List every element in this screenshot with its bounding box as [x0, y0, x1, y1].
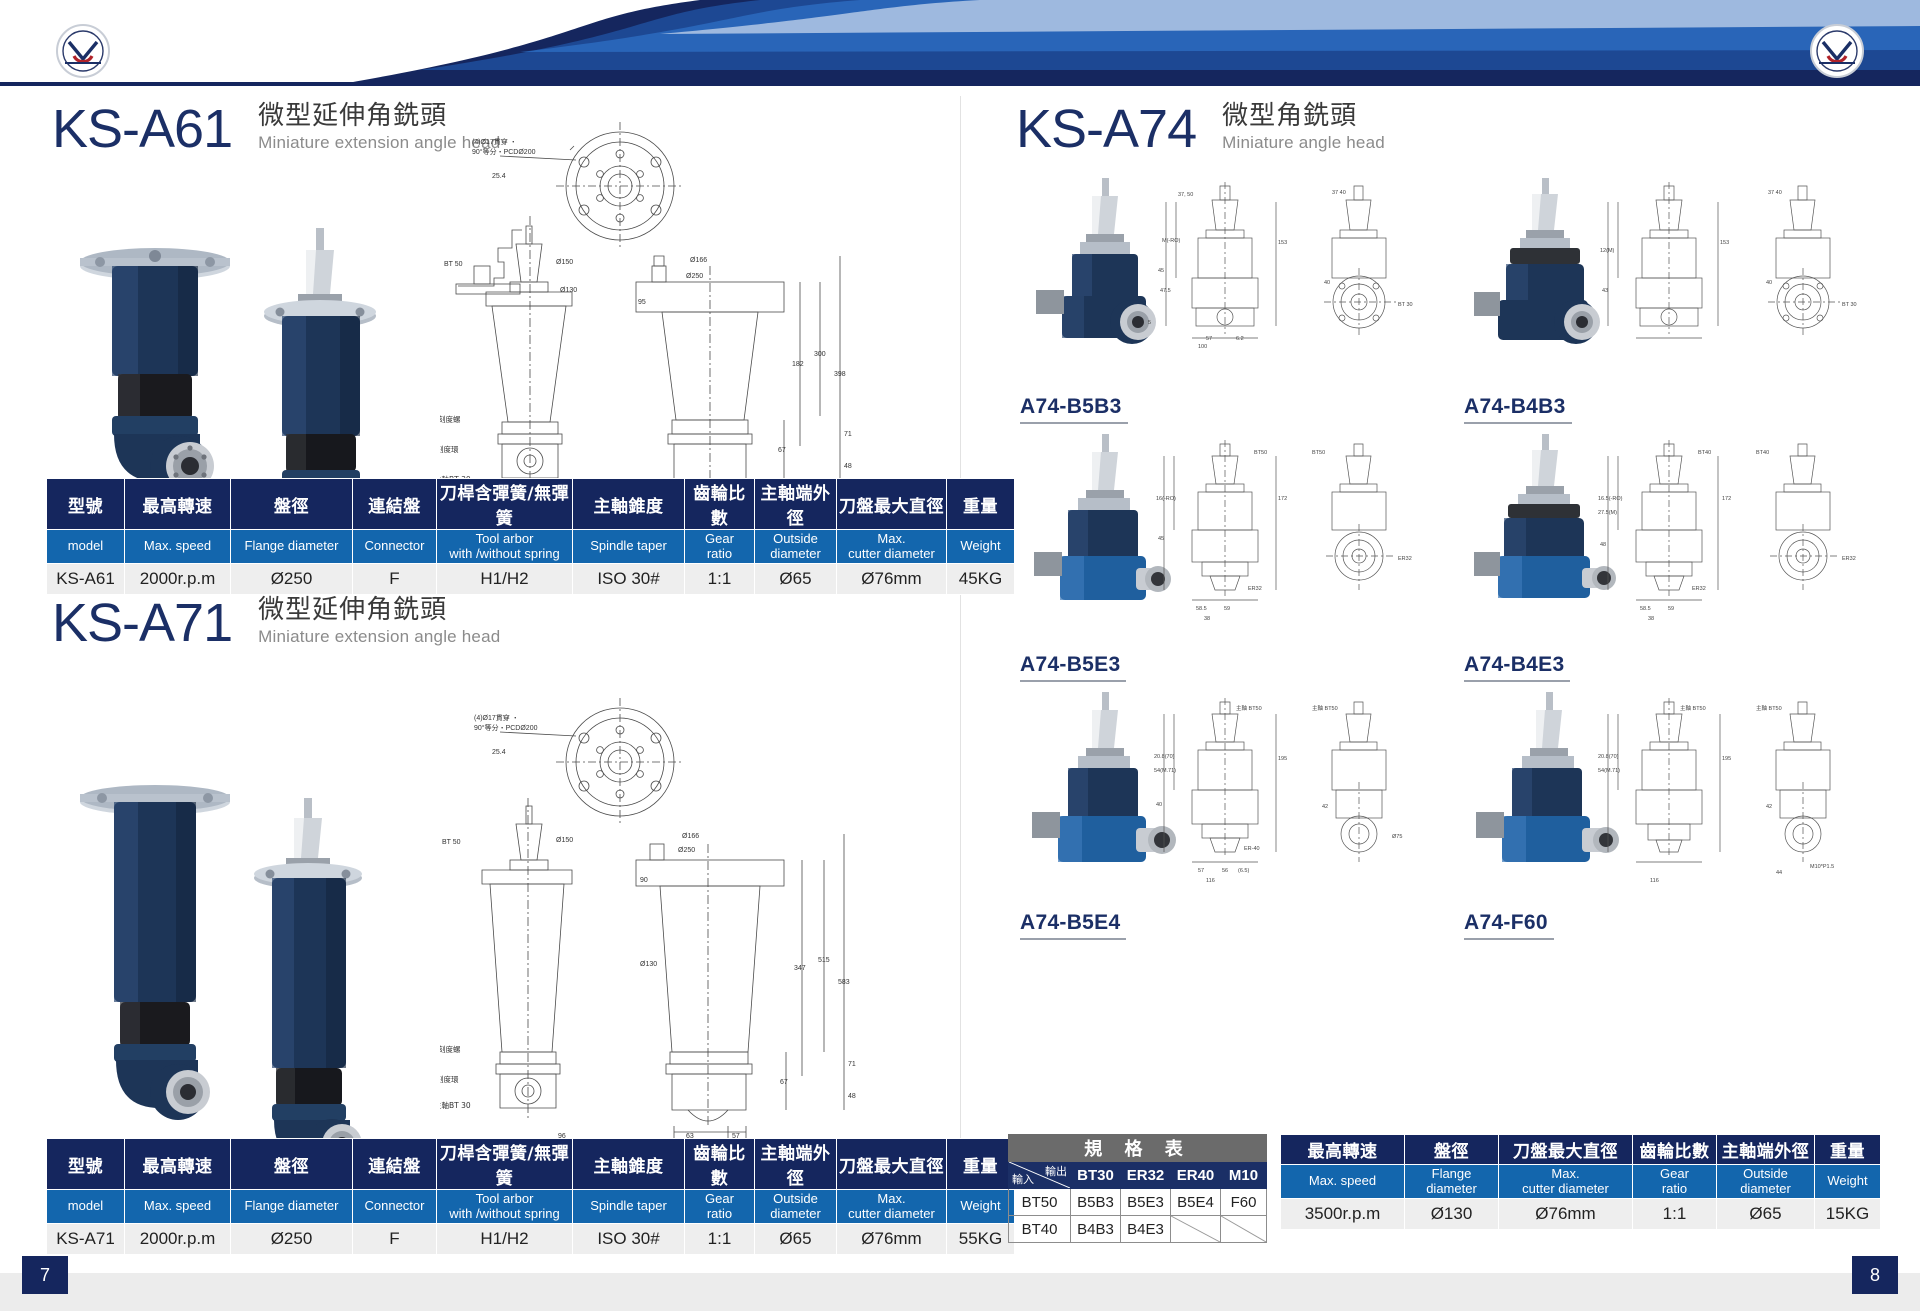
variant-card: BT40 16.5(-RO)27.5(M) 48 172 ER32 58.559…	[1450, 430, 1886, 688]
spec-table-ks-a61: 型號 最高轉速 盤徑 連結盤 刀桿含彈簧/無彈簧 主軸錐度 齒輪比數 主軸端外徑…	[46, 478, 1015, 595]
technical-drawing-a71: (4)Ø17貫穿 ‧ 90°等分‧PCDØ200 25.4 BT 50 Ø150…	[440, 694, 940, 1164]
svg-text:25.4: 25.4	[492, 749, 506, 756]
svg-text:20.8(70): 20.8(70)	[1154, 754, 1175, 760]
empty-diagonal-icon	[1221, 1216, 1266, 1242]
th-en-3: Connector	[353, 1190, 437, 1224]
svg-text:20.8(70): 20.8(70)	[1598, 754, 1619, 760]
th-cn-1: 盤徑	[1405, 1135, 1499, 1165]
td-6: 1:1	[685, 564, 755, 595]
footer-strip	[0, 1273, 1920, 1311]
technical-drawing-a61: (4)Ø17貫穿 ‧ 90°等分‧PCDØ200 25.4 BT 50 Ø150…	[440, 116, 940, 536]
svg-text:BT50: BT50	[1254, 450, 1267, 456]
td-4: Ø65	[1717, 1199, 1815, 1230]
svg-text:Ø130: Ø130	[640, 961, 657, 968]
product-heading-ks-a71: KS-A71 微型延伸角銑頭 Miniature extension angle…	[52, 596, 500, 650]
th-en-7: Outside diameter	[755, 1190, 837, 1224]
svg-text:Ø166: Ø166	[690, 257, 707, 264]
th-en-5: Weight	[1815, 1165, 1881, 1199]
variant-code: A74-B5B3	[1020, 395, 1128, 424]
svg-text:42: 42	[1322, 804, 1328, 810]
th-en-1: Max. speed	[125, 1190, 231, 1224]
th-en-0: model	[47, 530, 125, 564]
svg-text:100: 100	[1198, 344, 1207, 350]
td-8: Ø76mm	[837, 564, 947, 595]
table-header-row-en: Max. speed Flange diameter Max. cutter d…	[1281, 1165, 1881, 1199]
variant-caption: A74-B5E3	[1006, 653, 1442, 682]
td-5: 15KG	[1815, 1199, 1881, 1230]
svg-text:刻度環: 刻度環	[440, 1074, 459, 1084]
svg-text:153: 153	[1278, 240, 1287, 246]
svg-text:54(M.71): 54(M.71)	[1154, 768, 1176, 774]
variant-illustration: 37, 50M(-RO) 4547.5 153100 576.2 5 37 40…	[1006, 172, 1442, 384]
td-3: F	[353, 1224, 437, 1255]
matrix-col-2: ER40	[1171, 1162, 1221, 1189]
svg-text:48: 48	[844, 463, 852, 470]
svg-text:16(-RO): 16(-RO)	[1156, 496, 1176, 502]
matrix-cell: F60	[1221, 1189, 1267, 1216]
th-cn-4: 主軸端外徑	[1717, 1135, 1815, 1165]
svg-text:37, 50: 37, 50	[1178, 192, 1193, 198]
svg-text:195: 195	[1722, 756, 1731, 762]
svg-text:(4)Ø17貫穿 ‧: (4)Ø17貫穿 ‧	[472, 137, 517, 146]
svg-text:116: 116	[1206, 878, 1215, 884]
product-photo-a71-right	[200, 786, 450, 1186]
td-1: Ø130	[1405, 1199, 1499, 1230]
svg-text:59: 59	[1224, 606, 1230, 612]
svg-text:67: 67	[778, 447, 786, 454]
td-4: H1/H2	[437, 1224, 573, 1255]
variant-caption: A74-B4E3	[1450, 653, 1886, 682]
variant-card: 37, 50M(-RO) 4547.5 153100 576.2 5 37 40…	[1006, 172, 1442, 430]
table-header-row-en: model Max. speed Flange diameter Connect…	[47, 530, 1015, 564]
svg-text:515: 515	[818, 957, 830, 964]
th-cn-1: 最高轉速	[125, 1139, 231, 1190]
th-en-2: Flange diameter	[231, 530, 353, 564]
th-en-2: Max. cutter diameter	[1499, 1165, 1633, 1199]
svg-text:Ø150: Ø150	[556, 837, 573, 844]
svg-text:ER-40: ER-40	[1244, 846, 1260, 852]
th-cn-5: 主軸錐度	[573, 479, 685, 530]
td-0: KS-A71	[47, 1224, 125, 1255]
matrix-cell: B5E3	[1121, 1189, 1171, 1216]
th-cn-1: 最高轉速	[125, 479, 231, 530]
th-cn-2: 盤徑	[231, 479, 353, 530]
matrix-cell: B4E3	[1121, 1216, 1171, 1243]
td-7: Ø65	[755, 1224, 837, 1255]
page-number-left: 7	[22, 1256, 68, 1294]
matrix-row-label: BT40	[1009, 1216, 1071, 1243]
product-heading-ks-a61: KS-A61 微型延伸角銑頭 Miniature extension angle…	[52, 102, 500, 156]
svg-text:Ø150: Ø150	[556, 259, 573, 266]
th-en-0: model	[47, 1190, 125, 1224]
svg-text:主軸 BT50: 主軸 BT50	[1312, 704, 1338, 712]
svg-text:38: 38	[1648, 616, 1654, 622]
svg-text:57: 57	[1206, 336, 1212, 342]
svg-text:58.5: 58.5	[1640, 606, 1651, 612]
th-cn-5: 重量	[1815, 1135, 1881, 1165]
svg-text:45: 45	[1158, 536, 1164, 542]
svg-text:刻度螺: 刻度螺	[440, 414, 461, 424]
variant-caption: A74-B5B3	[1006, 395, 1442, 424]
svg-text:56: 56	[1222, 868, 1228, 874]
th-cn-7: 主軸端外徑	[755, 479, 837, 530]
svg-text:54(M.71): 54(M.71)	[1598, 768, 1620, 774]
svg-text:71: 71	[844, 431, 852, 438]
th-cn-2: 刀盤最大直徑	[1499, 1135, 1633, 1165]
svg-text:6.2: 6.2	[1236, 336, 1244, 342]
th-en-6: Gear ratio	[685, 530, 755, 564]
th-en-4: Tool arbor with /without spring	[437, 1190, 573, 1224]
matrix-corner-output: 輸出	[1045, 1163, 1067, 1179]
matrix-col-1: ER32	[1121, 1162, 1171, 1189]
svg-text:59: 59	[1668, 606, 1674, 612]
svg-text:398: 398	[834, 371, 846, 378]
product-code: KS-A71	[52, 596, 232, 650]
td-5: ISO 30#	[573, 564, 685, 595]
svg-text:主軸 BT50: 主軸 BT50	[1756, 704, 1782, 712]
svg-text:95: 95	[638, 299, 646, 306]
svg-text:M(-RO): M(-RO)	[1162, 238, 1180, 244]
th-cn-8: 刀盤最大直徑	[837, 479, 947, 530]
svg-text:47.5: 47.5	[1160, 288, 1171, 294]
th-en-5: Spindle taper	[573, 530, 685, 564]
svg-text:195: 195	[1278, 756, 1287, 762]
svg-text:182: 182	[792, 361, 804, 368]
matrix-title-row: 規 格 表	[1009, 1135, 1267, 1162]
variant-illustration: 主軸 BT50 20.8(70)54(M.71) 40 195 ER-40 57…	[1006, 688, 1442, 900]
left-page: KS-A61 微型延伸角銑頭 Miniature extension angle…	[0, 86, 960, 1256]
th-en-5: Spindle taper	[573, 1190, 685, 1224]
variant-code: A74-B5E4	[1020, 911, 1126, 940]
th-en-3: Gear ratio	[1633, 1165, 1717, 1199]
svg-text:42: 42	[1766, 804, 1772, 810]
th-en-1: Flange diameter	[1405, 1165, 1499, 1199]
page-number-right: 8	[1852, 1256, 1898, 1294]
td-5: ISO 30#	[573, 1224, 685, 1255]
th-en-2: Flange diameter	[231, 1190, 353, 1224]
th-en-0: Max. speed	[1281, 1165, 1405, 1199]
th-cn-4: 刀桿含彈簧/無彈簧	[437, 1139, 573, 1190]
th-en-8: Max. cutter diameter	[837, 1190, 947, 1224]
product-heading-ks-a74: KS-A74 微型角銑頭 Miniature angle head	[1016, 102, 1385, 156]
product-code: KS-A74	[1016, 102, 1196, 156]
matrix-title: 規 格 表	[1009, 1135, 1267, 1162]
variant-code: A74-B4B3	[1464, 395, 1572, 424]
svg-text:40: 40	[1156, 802, 1162, 808]
th-cn-5: 主軸錐度	[573, 1139, 685, 1190]
svg-text:BT 30: BT 30	[1398, 302, 1413, 308]
matrix-corner-input: 輸入	[1012, 1171, 1034, 1187]
th-en-1: Max. speed	[125, 530, 231, 564]
td-0: KS-A61	[47, 564, 125, 595]
td-2: Ø76mm	[1499, 1199, 1633, 1230]
company-logo-icon-left	[56, 24, 110, 78]
svg-text:37 40: 37 40	[1768, 190, 1782, 196]
spec-table-ks-a71: 型號 最高轉速 盤徑 連結盤 刀桿含彈簧/無彈簧 主軸錐度 齒輪比數 主軸端外徑…	[46, 1138, 1015, 1255]
company-logo-icon-right	[1810, 24, 1864, 78]
variant-code: A74-B4E3	[1464, 653, 1570, 682]
svg-text:40: 40	[1766, 280, 1772, 286]
svg-text:ER32: ER32	[1398, 556, 1412, 562]
svg-text:44: 44	[1776, 870, 1782, 876]
svg-text:48: 48	[1600, 542, 1606, 548]
svg-text:40: 40	[1324, 280, 1330, 286]
th-cn-4: 刀桿含彈簧/無彈簧	[437, 479, 573, 530]
svg-text:58.5: 58.5	[1196, 606, 1207, 612]
svg-text:Ø250: Ø250	[678, 847, 695, 854]
top-banner	[0, 0, 1920, 86]
svg-text:172: 172	[1722, 496, 1731, 502]
svg-text:153: 153	[1720, 240, 1729, 246]
matrix-cell: B5E4	[1171, 1189, 1221, 1216]
specification-matrix: 規 格 表 輸出 輸入 BT30 ER32 ER40 M10 BT50 B5B3…	[1008, 1134, 1267, 1243]
svg-text:Ø166: Ø166	[682, 833, 699, 840]
right-page: KS-A74 微型角銑頭 Miniature angle head	[960, 86, 1920, 1256]
product-name-en: Miniature angle head	[1222, 133, 1385, 153]
table-row: KS-A61 2000r.p.m Ø250 F H1/H2 ISO 30# 1:…	[47, 564, 1015, 595]
th-en-7: Outside diameter	[755, 530, 837, 564]
th-en-4: Tool arbor with /without spring	[437, 530, 573, 564]
td-2: Ø250	[231, 1224, 353, 1255]
variant-illustration: 37 4040 BT 30 12(M)43 153	[1450, 172, 1886, 384]
svg-text:BT40: BT40	[1698, 450, 1711, 456]
th-en-8: Max. cutter diameter	[837, 530, 947, 564]
svg-text:67: 67	[780, 1079, 788, 1086]
svg-text:90: 90	[640, 877, 648, 884]
svg-text:Ø130: Ø130	[560, 287, 577, 294]
td-3: F	[353, 564, 437, 595]
spec-table-ks-a74: 最高轉速 盤徑 刀盤最大直徑 齒輪比數 主軸端外徑 重量 Max. speed …	[1280, 1134, 1881, 1230]
td-1: 2000r.p.m	[125, 1224, 231, 1255]
matrix-col-3: M10	[1221, 1162, 1267, 1189]
svg-text:Ø250: Ø250	[686, 273, 703, 280]
svg-text:583: 583	[838, 979, 850, 986]
svg-text:5: 5	[1148, 320, 1151, 326]
td-7: Ø65	[755, 564, 837, 595]
th-cn-3: 連結盤	[353, 479, 437, 530]
empty-diagonal-icon	[1171, 1216, 1220, 1242]
svg-text:主軸 BT50: 主軸 BT50	[1236, 704, 1262, 712]
table-header-row-cn: 最高轉速 盤徑 刀盤最大直徑 齒輪比數 主軸端外徑 重量	[1281, 1135, 1881, 1165]
svg-text:37 40: 37 40	[1332, 190, 1346, 196]
matrix-col-0: BT30	[1071, 1162, 1121, 1189]
variant-caption: A74-F60	[1450, 911, 1886, 940]
matrix-cell: B4B3	[1071, 1216, 1121, 1243]
variant-code: A74-B5E3	[1020, 653, 1126, 682]
table-header-row-en: model Max. speed Flange diameter Connect…	[47, 1190, 1015, 1224]
variant-illustration: 主軸 BT50 20.8(70)54(M.71) 195 主軸 BT50 42 …	[1450, 688, 1886, 900]
table-row: KS-A71 2000r.p.m Ø250 F H1/H2 ISO 30# 1:…	[47, 1224, 1015, 1255]
product-name-cn: 微型延伸角銑頭	[258, 596, 500, 626]
svg-text:27.5(M): 27.5(M)	[1598, 510, 1617, 516]
variant-card: 主軸 BT50 20.8(70)54(M.71) 195 主軸 BT50 42 …	[1450, 688, 1886, 946]
svg-text:主軸 BT50: 主軸 BT50	[1680, 704, 1706, 712]
variant-card: 37 4040 BT 30 12(M)43 153 A74-B4B3	[1450, 172, 1886, 430]
variant-illustration: BT40 16.5(-RO)27.5(M) 48 172 ER32 58.559…	[1450, 430, 1886, 642]
svg-text:BT40: BT40	[1756, 450, 1769, 456]
matrix-cell-empty	[1221, 1216, 1267, 1243]
matrix-row: BT50 B5B3 B5E3 B5E4 F60	[1009, 1189, 1267, 1216]
matrix-cell-empty	[1171, 1216, 1221, 1243]
svg-text:ER32: ER32	[1692, 586, 1706, 592]
svg-text:43: 43	[1602, 288, 1608, 294]
matrix-row-label: BT50	[1009, 1189, 1071, 1216]
svg-text:12(M): 12(M)	[1600, 248, 1615, 254]
svg-text:M10*P1.5: M10*P1.5	[1810, 864, 1834, 870]
svg-text:25.4: 25.4	[492, 173, 506, 180]
svg-text:48: 48	[848, 1093, 856, 1100]
variant-grid: 37, 50M(-RO) 4547.5 153100 576.2 5 37 40…	[1006, 172, 1886, 946]
variant-code: A74-F60	[1464, 911, 1554, 940]
td-4: H1/H2	[437, 564, 573, 595]
td-8: Ø76mm	[837, 1224, 947, 1255]
th-en-6: Gear ratio	[685, 1190, 755, 1224]
th-cn-8: 刀盤最大直徑	[837, 1139, 947, 1190]
svg-text:90°等分‧PCDØ200: 90°等分‧PCDØ200	[474, 723, 538, 732]
svg-text:ER32: ER32	[1248, 586, 1262, 592]
svg-text:90°等分‧PCDØ200: 90°等分‧PCDØ200	[472, 147, 536, 156]
td-3: 1:1	[1633, 1199, 1717, 1230]
td-0: 3500r.p.m	[1281, 1199, 1405, 1230]
variant-caption: A74-B5E4	[1006, 911, 1442, 940]
th-en-4: Outside diameter	[1717, 1165, 1815, 1199]
th-cn-0: 最高轉速	[1281, 1135, 1405, 1165]
svg-text:(4)Ø17貫穿 ‧: (4)Ø17貫穿 ‧	[474, 713, 519, 722]
variant-illustration: BT50 16(-RO)45 172 ER32 58.559 BT50ER32 …	[1006, 430, 1442, 642]
svg-text:300: 300	[814, 351, 826, 358]
svg-text:Ø75: Ø75	[1392, 834, 1402, 840]
matrix-header-row: 輸出 輸入 BT30 ER32 ER40 M10	[1009, 1162, 1267, 1189]
svg-text:BT 50: BT 50	[442, 839, 461, 846]
svg-text:BT50: BT50	[1312, 450, 1325, 456]
variant-card: 主軸 BT50 20.8(70)54(M.71) 40 195 ER-40 57…	[1006, 688, 1442, 946]
matrix-corner-cell: 輸出 輸入	[1009, 1162, 1071, 1189]
catalog-page: KS-A61 微型延伸角銑頭 Miniature extension angle…	[0, 0, 1920, 1311]
svg-text:刻度環: 刻度環	[440, 444, 459, 454]
table-header-row-cn: 型號 最高轉速 盤徑 連結盤 刀桿含彈簧/無彈簧 主軸錐度 齒輪比數 主軸端外徑…	[47, 479, 1015, 530]
variant-card: BT50 16(-RO)45 172 ER32 58.559 BT50ER32 …	[1006, 430, 1442, 688]
svg-text:347: 347	[794, 965, 806, 972]
svg-text:ER32: ER32	[1842, 556, 1856, 562]
product-name-cn: 微型角銑頭	[1222, 102, 1385, 132]
svg-text:主軸BT 30: 主軸BT 30	[440, 1100, 471, 1110]
matrix-row: BT40 B4B3 B4E3	[1009, 1216, 1267, 1243]
svg-text:16.5(-RO): 16.5(-RO)	[1598, 496, 1623, 502]
matrix-cell: B5B3	[1071, 1189, 1121, 1216]
th-cn-2: 盤徑	[231, 1139, 353, 1190]
table-header-row-cn: 型號 最高轉速 盤徑 連結盤 刀桿含彈簧/無彈簧 主軸錐度 齒輪比數 主軸端外徑…	[47, 1139, 1015, 1190]
td-6: 1:1	[685, 1224, 755, 1255]
td-1: 2000r.p.m	[125, 564, 231, 595]
svg-text:刻度螺: 刻度螺	[440, 1044, 461, 1054]
svg-text:38: 38	[1204, 616, 1210, 622]
product-code: KS-A61	[52, 102, 232, 156]
svg-text:BT 50: BT 50	[444, 261, 463, 268]
svg-text:BT 30: BT 30	[1842, 302, 1857, 308]
th-cn-0: 型號	[47, 479, 125, 530]
variant-caption: A74-B4B3	[1450, 395, 1886, 424]
svg-text:(6.5): (6.5)	[1238, 868, 1249, 874]
product-name-en: Miniature extension angle head	[258, 627, 500, 647]
svg-text:57: 57	[1198, 868, 1204, 874]
th-cn-0: 型號	[47, 1139, 125, 1190]
th-en-3: Connector	[353, 530, 437, 564]
svg-text:45: 45	[1158, 268, 1164, 274]
table-row: 3500r.p.m Ø130 Ø76mm 1:1 Ø65 15KG	[1281, 1199, 1881, 1230]
th-cn-6: 齒輪比數	[685, 1139, 755, 1190]
svg-text:71: 71	[848, 1061, 856, 1068]
td-2: Ø250	[231, 564, 353, 595]
th-cn-3: 連結盤	[353, 1139, 437, 1190]
th-cn-3: 齒輪比數	[1633, 1135, 1717, 1165]
svg-text:172: 172	[1278, 496, 1287, 502]
th-cn-6: 齒輪比數	[685, 479, 755, 530]
svg-text:116: 116	[1650, 878, 1659, 884]
th-cn-7: 主軸端外徑	[755, 1139, 837, 1190]
